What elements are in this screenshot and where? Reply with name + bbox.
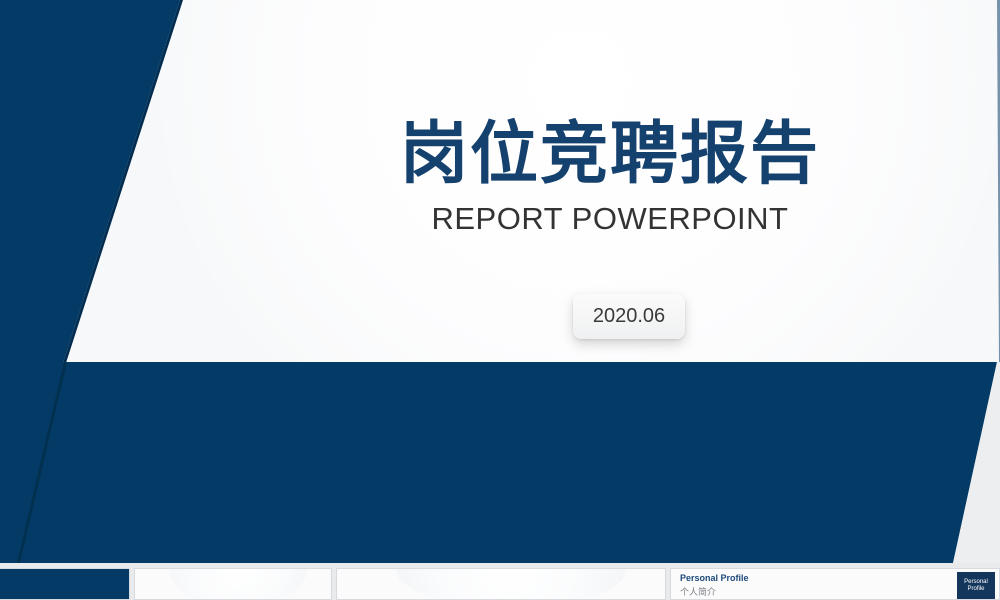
- slide-subtitle[interactable]: REPORT POWERPOINT: [300, 201, 920, 237]
- thumbnail-blank-slide-a[interactable]: [134, 568, 332, 600]
- thumbnail-dome: [396, 568, 626, 600]
- left-navy-parallelogram: [0, 0, 200, 370]
- title-block: 岗位竞聘报告 REPORT POWERPOINT: [300, 118, 920, 237]
- thumbnail-personal-profile-slide[interactable]: Personal Profile 个人简介 Personal Profile: [670, 568, 1000, 600]
- thumbnail-blank-slide-b[interactable]: [336, 568, 666, 600]
- thumbnail-section-badge: Personal Profile: [957, 572, 995, 599]
- right-edge-blue-sliver: [990, 0, 1000, 363]
- slide-canvas[interactable]: 岗位竞聘报告 REPORT POWERPOINT 2020.06: [0, 0, 1000, 563]
- thumbnail-navy-fill: [0, 569, 130, 600]
- date-chip[interactable]: 2020.06: [573, 294, 685, 339]
- thumbnail-title-cn: 个人简介: [680, 585, 716, 598]
- slide-title[interactable]: 岗位竞聘报告: [300, 118, 920, 191]
- thumbnail-dome: [170, 568, 307, 600]
- slide-thumbnail-strip[interactable]: Personal Profile 个人简介 Personal Profile: [0, 563, 1000, 600]
- thumbnail-badge-line2: Profile: [967, 586, 984, 593]
- thumbnail-title-en: Personal Profile: [680, 573, 749, 583]
- bottom-navy-band: [0, 362, 1000, 563]
- thumbnail-title-slide[interactable]: [0, 568, 130, 600]
- thumbnail-badge-line1: Personal: [964, 579, 988, 586]
